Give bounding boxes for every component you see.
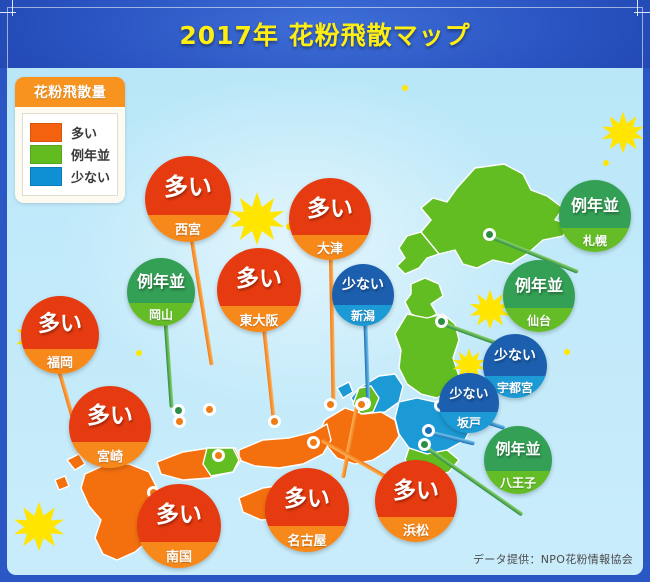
- region-aomori: [405, 278, 443, 320]
- region-hokkaido: [421, 164, 569, 268]
- legend-item-low: 少ない: [30, 167, 110, 186]
- page-header: 2017年 花粉飛散マップ: [0, 0, 650, 68]
- legend-panel: 花粉飛散量 多い 例年並 少ない: [15, 77, 125, 203]
- marker-fukuoka[interactable]: 多い 福岡: [21, 296, 99, 374]
- legend-swatch-average: [30, 145, 62, 164]
- stem-cap-nishinomiya: [203, 403, 216, 416]
- stem-cap-okayama: [172, 404, 185, 417]
- sparkle-dot-6: [603, 160, 609, 166]
- marker-hamamatsu[interactable]: 多い 浜松: [375, 460, 457, 542]
- starburst-icon-5: [601, 110, 643, 154]
- sparkle-dot-2: [136, 350, 142, 356]
- stem-cap-sendai: [435, 315, 448, 328]
- marker-nishinomiya[interactable]: 多い 西宮: [145, 156, 231, 242]
- region-chubu: [319, 408, 399, 464]
- page-title: 2017年 花粉飛散マップ: [0, 0, 650, 68]
- starburst-icon-1: [229, 190, 285, 246]
- stem-cap-nagoya: [355, 398, 368, 411]
- marker-nagoya[interactable]: 多い 名古屋: [265, 468, 349, 552]
- region-kyushu-isles: [55, 454, 85, 490]
- marker-niigata[interactable]: 少ない 新潟: [332, 264, 394, 326]
- legend-item-high: 多い: [30, 123, 110, 142]
- data-credit: データ提供：NPO花粉情報協会: [473, 551, 633, 567]
- marker-otsu[interactable]: 多い 大津: [289, 178, 371, 260]
- sparkle-dot-4: [564, 349, 570, 355]
- region-small-isle: [337, 382, 353, 398]
- stem-cap-sapporo: [483, 228, 496, 241]
- stem-cap-hamamatsu: [307, 436, 320, 449]
- legend-label-high: 多い: [71, 123, 97, 142]
- marker-miyazaki[interactable]: 多い 宮崎: [69, 386, 151, 468]
- legend-title: 花粉飛散量: [15, 77, 125, 107]
- marker-sakado[interactable]: 少ない 坂戸: [439, 373, 499, 433]
- legend-label-low: 少ない: [71, 167, 110, 186]
- legend-swatch-low: [30, 167, 62, 186]
- legend-item-average: 例年並: [30, 145, 110, 164]
- stem-cap-otsu: [324, 398, 337, 411]
- pollen-map-app: 2017年 花粉飛散マップ: [0, 0, 650, 582]
- stem-cap-miyazaki: [212, 449, 225, 462]
- marker-nankoku[interactable]: 多い 南国: [137, 484, 221, 568]
- stem-cap-fukuoka: [173, 415, 186, 428]
- starburst-icon-3: [13, 500, 65, 552]
- marker-okayama[interactable]: 例年並 岡山: [127, 258, 195, 326]
- stem-cap-hachioji: [418, 438, 431, 451]
- sparkle-dot-5: [402, 85, 408, 91]
- marker-higashiosaka[interactable]: 多い 東大阪: [217, 248, 301, 332]
- marker-sapporo[interactable]: 例年並 札幌: [559, 180, 631, 252]
- marker-hachioji[interactable]: 例年並 八王子: [484, 426, 552, 494]
- legend-swatch-high: [30, 123, 62, 142]
- legend-items: 多い 例年並 少ない: [22, 113, 118, 196]
- stem-cap-higashiosaka: [268, 415, 281, 428]
- stem-cap-sakado: [422, 424, 435, 437]
- legend-label-average: 例年並: [71, 145, 110, 164]
- map-canvas: 多い 福岡 多い 宮崎 多い 西宮 例年並 岡山 多い 東大阪 多い 大津 少な…: [7, 68, 643, 575]
- marker-sendai[interactable]: 例年並 仙台: [503, 260, 575, 332]
